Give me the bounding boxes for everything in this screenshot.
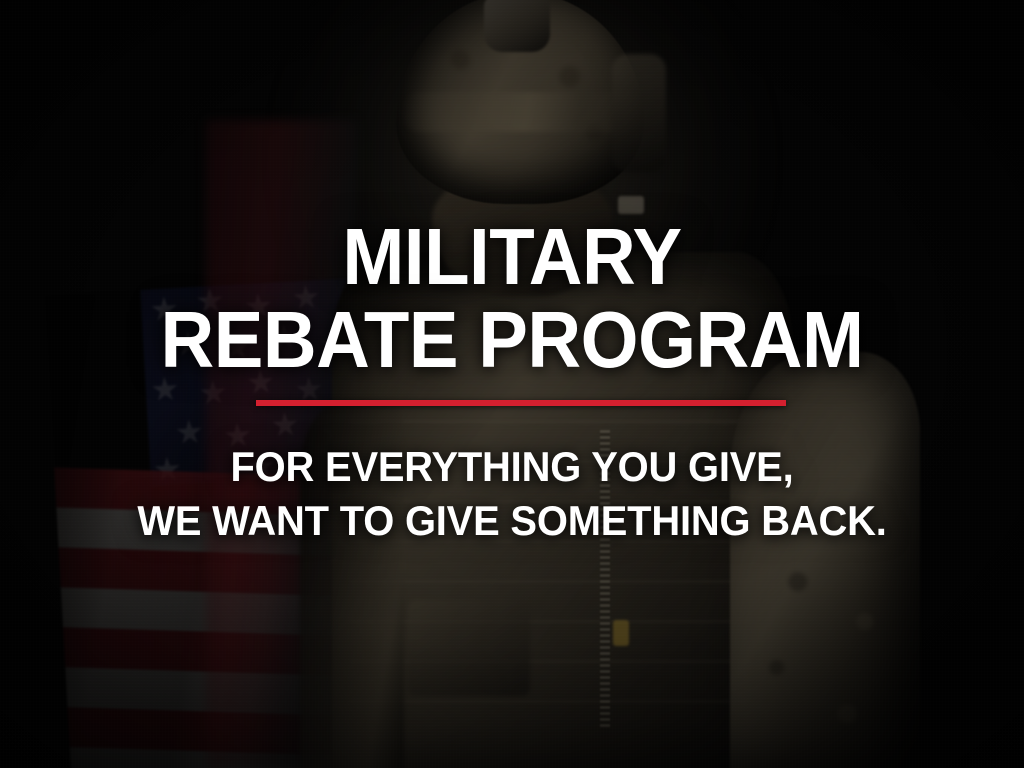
subhead-line-1: FOR EVERYTHING YOU GIVE, (26, 446, 999, 488)
red-divider-rule (256, 400, 786, 406)
headline-line-1: MILITARY (36, 219, 988, 294)
text-overlay: MILITARY REBATE PROGRAM FOR EVERYTHING Y… (0, 0, 1024, 768)
military-rebate-banner: MILITARY REBATE PROGRAM FOR EVERYTHING Y… (0, 0, 1024, 768)
headline-line-2: REBATE PROGRAM (36, 302, 988, 377)
subhead-line-2: WE WANT TO GIVE SOMETHING BACK. (26, 500, 999, 542)
